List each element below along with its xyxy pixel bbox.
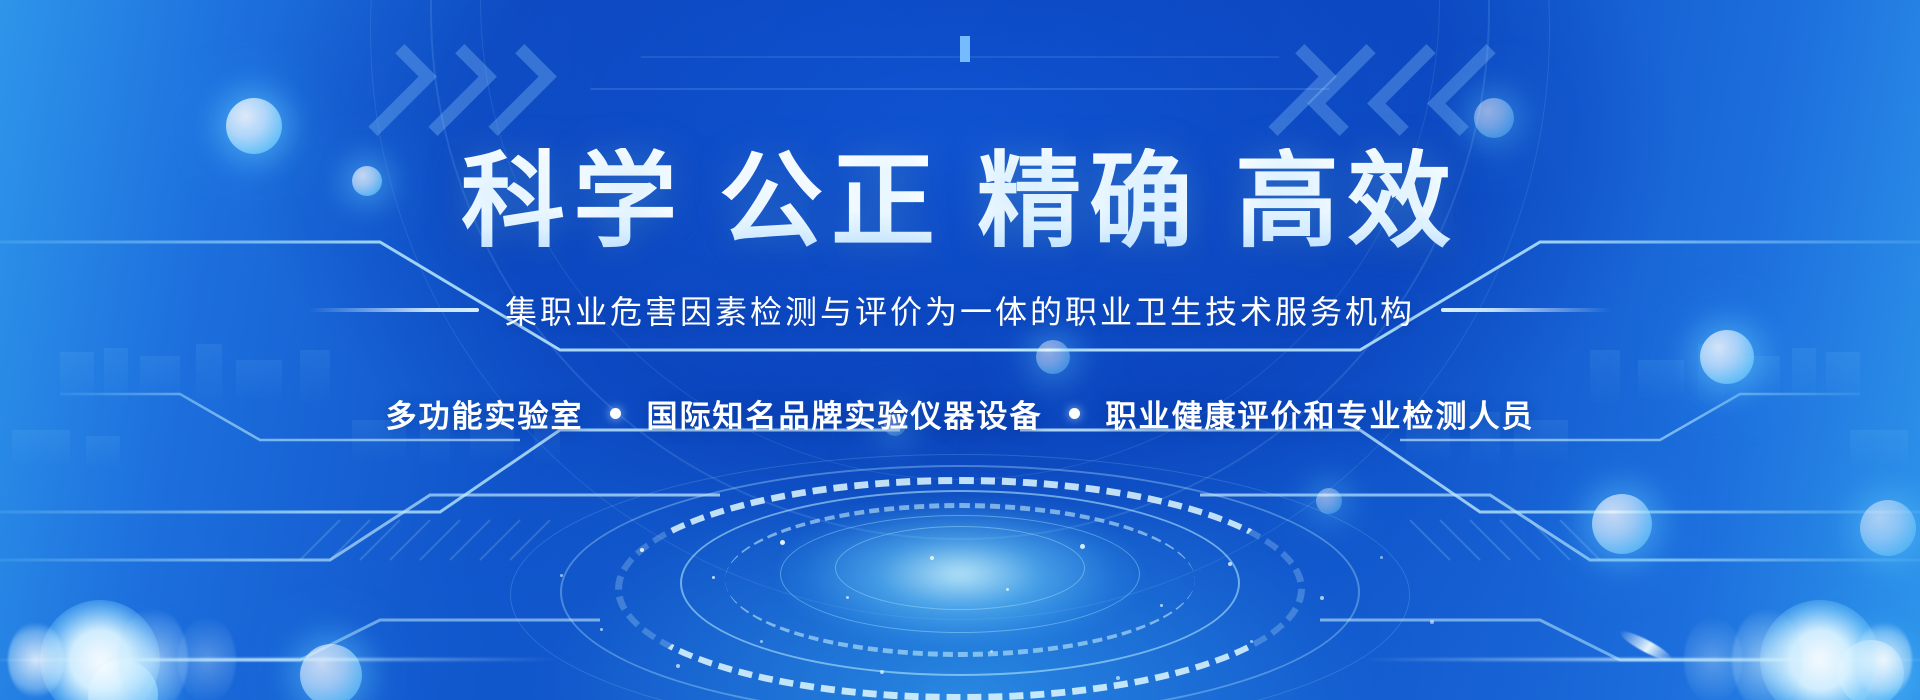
tagline-item-2: 国际知名品牌实验仪器设备 — [647, 391, 1043, 436]
page-title: 科学公正精确高效 — [461, 148, 1459, 257]
bullet-separator-icon — [1069, 408, 1080, 419]
tagline-row: 多功能实验室 国际知名品牌实验仪器设备 职业健康评价和专业检测人员 — [386, 391, 1535, 436]
divider-right — [1441, 308, 1611, 312]
banner-content: 科学公正精确高效 集职业危害因素检测与评价为一体的职业卫生技术服务机构 多功能实… — [0, 0, 1920, 700]
tagline-item-1: 多功能实验室 — [386, 391, 584, 436]
hero-banner: 科学公正精确高效 集职业危害因素检测与评价为一体的职业卫生技术服务机构 多功能实… — [0, 0, 1920, 700]
bullet-separator-icon — [610, 408, 621, 419]
headline-word-3: 精确 — [977, 144, 1201, 260]
divider-left — [309, 308, 479, 312]
subtitle-row: 集职业危害因素检测与评价为一体的职业卫生技术服务机构 — [309, 287, 1611, 333]
headline-word-2: 公正 — [719, 144, 943, 260]
subtitle: 集职业危害因素检测与评价为一体的职业卫生技术服务机构 — [505, 287, 1415, 333]
headline-word-1: 科学 — [461, 144, 685, 260]
headline-word-4: 高效 — [1235, 144, 1459, 260]
tagline-item-3: 职业健康评价和专业检测人员 — [1106, 391, 1535, 436]
